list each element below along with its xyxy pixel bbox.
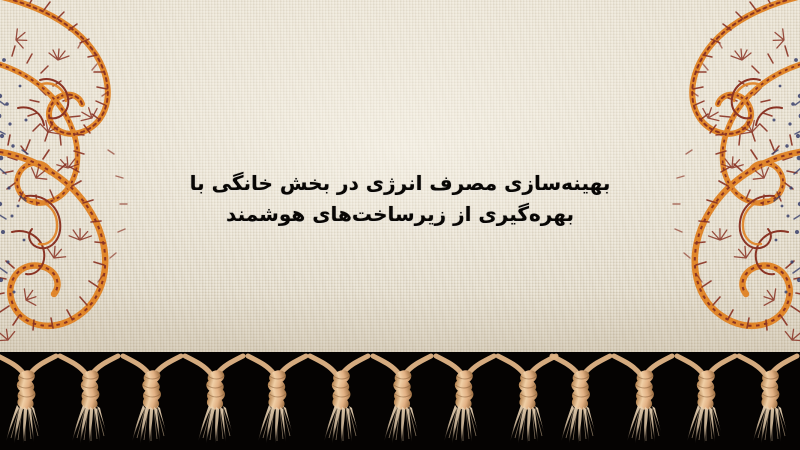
tassel [129, 352, 175, 444]
tassel [442, 352, 488, 444]
tassel [504, 352, 550, 444]
tassel [745, 352, 791, 444]
tassel [379, 352, 425, 444]
title-slide: بهینه‌سازی مصرف انرژی در بخش خانگی با به… [0, 0, 800, 450]
paisley-embroidery-right [554, 0, 800, 372]
tassel [4, 352, 50, 444]
paisley-embroidery-left [0, 0, 246, 372]
tassel [558, 352, 604, 444]
tassel [620, 352, 666, 444]
tassel-fringe-band [0, 352, 800, 450]
tassel [316, 352, 362, 444]
tassel [683, 352, 729, 444]
tassel [66, 352, 112, 444]
tassel [191, 352, 237, 444]
tassel [254, 352, 300, 444]
